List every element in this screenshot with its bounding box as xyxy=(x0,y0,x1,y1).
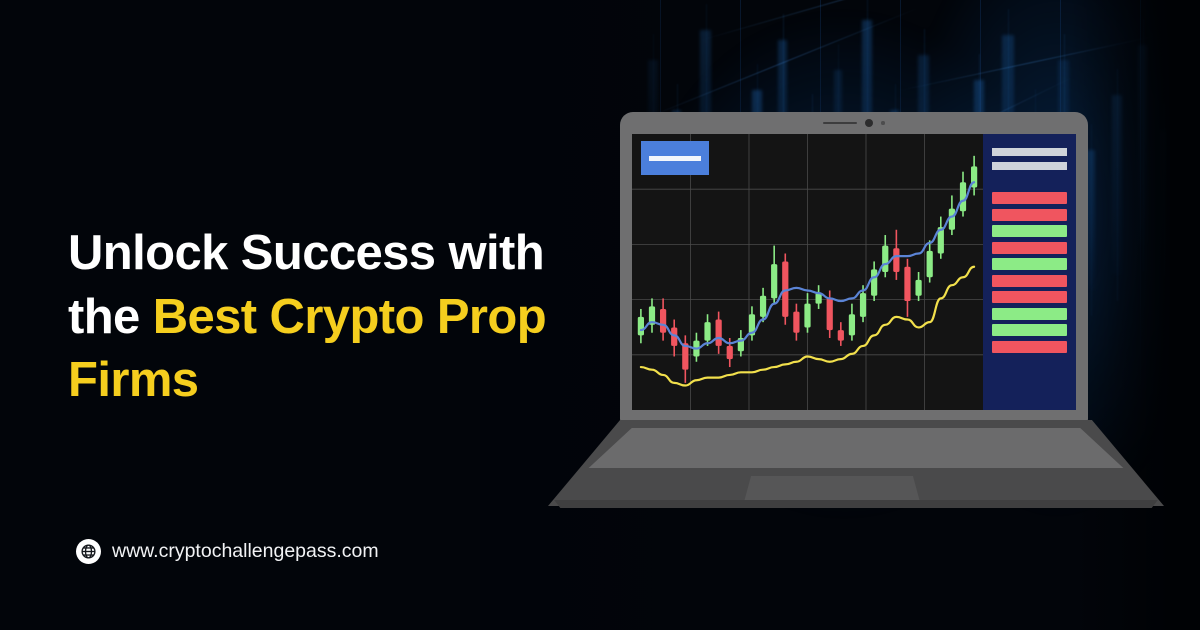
order-book-row-down xyxy=(992,242,1067,254)
order-book-row-up xyxy=(992,225,1067,237)
headline-line-2-accent: Best Crypto Prop xyxy=(153,290,546,344)
headline-line-3-accent: Firms xyxy=(68,353,198,407)
trading-chart-panel[interactable] xyxy=(632,134,983,410)
order-book-row-up xyxy=(992,324,1067,336)
laptop-lid xyxy=(620,112,1088,422)
order-book-row-up xyxy=(992,258,1067,270)
order-book-row-up xyxy=(992,308,1067,320)
page-title: Unlock Success with the Best Crypto Prop… xyxy=(68,222,608,413)
laptop-illustration xyxy=(548,112,1164,512)
led-indicator-icon xyxy=(881,121,885,125)
camera-icon xyxy=(865,119,873,127)
headline-line-1: Unlock Success with xyxy=(68,226,544,280)
order-book-row-down xyxy=(992,209,1067,221)
globe-icon xyxy=(76,539,101,564)
website-url-row[interactable]: www.cryptochallengepass.com xyxy=(76,539,379,564)
laptop-keyboard-area xyxy=(548,428,1164,468)
website-url-text: www.cryptochallengepass.com xyxy=(112,540,379,563)
candlestick-chart xyxy=(632,134,983,410)
laptop-screen xyxy=(632,134,1076,410)
laptop-base xyxy=(548,420,1164,512)
sidebar-header-bar xyxy=(992,162,1067,170)
order-book-row-down xyxy=(992,291,1067,303)
laptop-trackpad[interactable] xyxy=(744,476,920,502)
order-book-rows xyxy=(992,192,1067,353)
order-book-sidebar[interactable] xyxy=(983,134,1076,410)
sidebar-header-bar xyxy=(992,148,1067,156)
chart-badge[interactable] xyxy=(641,141,709,175)
headline-line-2-prefix: the xyxy=(68,290,153,344)
sidebar-header xyxy=(992,148,1067,170)
order-book-row-down xyxy=(992,192,1067,204)
laptop-top-bezel xyxy=(620,112,1088,134)
speaker-line-icon xyxy=(823,122,857,125)
laptop-base-edge xyxy=(548,500,1164,508)
badge-label-bar xyxy=(649,156,701,161)
order-book-row-down xyxy=(992,341,1067,353)
order-book-row-down xyxy=(992,275,1067,287)
